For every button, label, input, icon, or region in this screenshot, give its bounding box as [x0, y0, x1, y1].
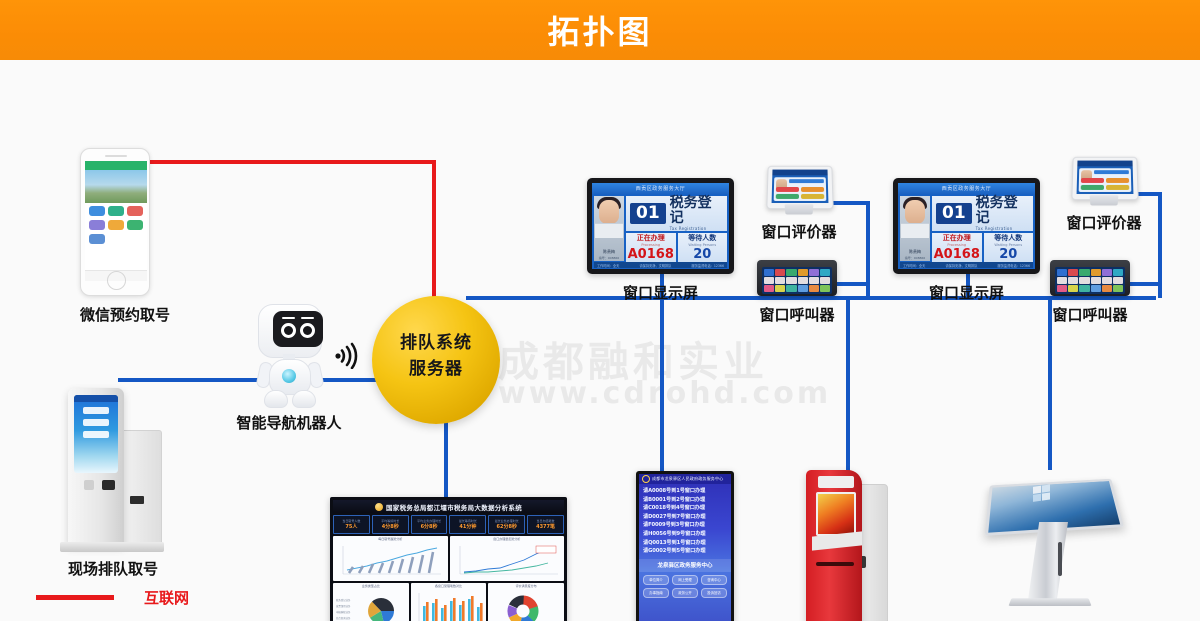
bar-chart [411, 589, 487, 621]
caller-key[interactable] [798, 277, 808, 284]
kpi-value: 41分钟 [459, 523, 476, 530]
diagram-canvas: 成都融和实业 www.cdrohd.com 排队系统 [0, 60, 1200, 621]
legend-item-lan: 单位局域网 [36, 613, 219, 621]
caller-key[interactable] [1068, 277, 1078, 284]
caller-right-node[interactable]: 窗口呼叫器 [1050, 256, 1130, 302]
evaluator-right-label: 窗口评价器 [1043, 212, 1165, 233]
evaluator-screen[interactable] [1077, 161, 1134, 194]
caller-key[interactable] [1057, 285, 1067, 292]
navigation-robot-node[interactable]: 智能导航机器人 [250, 304, 328, 408]
queue-call-line: 请C0018号到4号窗口办理 [643, 504, 727, 513]
photo-torso [901, 223, 929, 238]
display-footer: 工作时间：全天 请保持安静，文明排队 服务监督电话：12366 [900, 262, 1033, 268]
rating-button[interactable] [1106, 185, 1129, 190]
photo-face [599, 200, 619, 224]
caller-key[interactable] [786, 277, 796, 284]
caller-left-label: 窗口呼叫器 [736, 304, 858, 325]
evaluator-screen-header [1077, 161, 1132, 167]
caller-key[interactable] [1057, 269, 1067, 276]
caller-key[interactable] [1079, 269, 1089, 276]
evaluator-screen[interactable] [772, 170, 829, 203]
touch-kiosk-slot [1058, 542, 1062, 576]
line-chart-panel-1: 每日取号趋势分析 [333, 536, 448, 581]
processing-value: A0168 [932, 248, 982, 262]
phone-speaker [105, 155, 127, 157]
rating-button[interactable] [1081, 178, 1104, 183]
display-footer: 工作时间：全天 请保持安静，文明排队 服务监督电话：12366 [594, 262, 727, 268]
evaluator-title-bar [789, 179, 824, 183]
window-display-left-label: 窗口显示屏 [587, 282, 734, 303]
service-name-cn: 税务登记 [976, 196, 1029, 226]
self-service-kiosk-node[interactable]: 自助服务机 [800, 470, 900, 621]
caller-key[interactable] [798, 269, 808, 276]
dashboard-header: 国家税务总局都江堰市税务局大数据分析系统 [333, 500, 564, 513]
link-lan-caller-right-h [1128, 282, 1160, 286]
caller-key[interactable] [1091, 269, 1101, 276]
windows-logo-icon [1032, 484, 1052, 504]
robot-eyebrow [301, 317, 314, 319]
window-display-right-label: 窗口显示屏 [893, 282, 1040, 303]
caller-key[interactable] [1113, 269, 1123, 276]
queue-server-label: 排队系统 服务器 [372, 330, 500, 382]
display-hall-title: 西贡区政务服务大厅 [898, 183, 1035, 194]
line-chart-panel-2: 窗口办理量走势分析 [450, 536, 565, 581]
caller-key[interactable] [1113, 285, 1123, 292]
display-status-row: 正在办理 Processing A0168 等待人数 Waiting Perso… [626, 233, 727, 262]
comprehensive-frame: 成都市龙泉驿区人民政府政务服务中心 请A0008号到1号窗口办理 请B0001号… [636, 471, 734, 621]
phone-screen [85, 161, 147, 281]
evaluator-stand [1090, 195, 1119, 205]
robot-label: 智能导航机器人 [225, 412, 353, 433]
service-name-en: Tax Registration [670, 226, 723, 231]
app-icon [89, 206, 105, 216]
comprehensive-button[interactable]: 投诉回访 [701, 588, 727, 598]
photo-face [905, 200, 925, 224]
evaluator-left-node[interactable]: 窗口评价器 [763, 165, 835, 219]
queue-call-line: 请H0056号到9号窗口办理 [643, 530, 727, 539]
display-service-row: 01 税务登记 Tax Registration [932, 196, 1033, 231]
panel-title: 评价满意度分布 [488, 584, 564, 588]
comprehensive-header: 成都市龙泉驿区人民政府政务服务中心 [639, 474, 731, 484]
wechat-phone-node[interactable]: 微信预约取号 [80, 148, 150, 296]
emblem-icon [375, 503, 383, 511]
kpi-card: 最长业务办理时长 62分8秒 [488, 515, 525, 534]
footer-mid: 请保持安静，文明排队 [639, 263, 671, 268]
bigdata-dashboard-node[interactable]: 国家税务总局都江堰市税务局大数据分析系统 当日取号人数 75人 平均等候时长 4… [330, 497, 567, 621]
staff-name: 陈贵梅 [594, 249, 624, 255]
rating-button[interactable] [776, 187, 799, 192]
robot-pupil [303, 326, 312, 335]
rating-button[interactable] [1106, 178, 1129, 183]
phone-home-button[interactable] [107, 271, 126, 290]
comprehensive-subtitle: 龙泉驿区政务服务中心 [639, 559, 731, 572]
evaluator-screen-body [774, 177, 827, 201]
pie-chart-panel: 业务类型占比 税务登记业务发票领用业务 申报纳税业务综合咨询业务 [333, 583, 409, 621]
kpi-value: 4377笔 [536, 523, 555, 530]
phone-app-grid [85, 203, 147, 247]
panel-title: 每日取号趋势分析 [333, 537, 448, 541]
caller-keypad[interactable] [762, 267, 832, 294]
legend: 互联网 单位局域网 无线网络 [36, 581, 219, 621]
robot-eye [300, 323, 315, 338]
waiting-label-cn: 等待人数 [984, 234, 1034, 243]
dashboard-frame: 国家税务总局都江堰市税务局大数据分析系统 当日取号人数 75人 平均等候时长 4… [330, 497, 567, 621]
robot-head [258, 304, 322, 358]
rating-button[interactable] [1081, 185, 1104, 190]
dashboard-chart-row-1: 每日取号趋势分析 [333, 536, 564, 581]
caller-key[interactable] [786, 269, 796, 276]
dashboard-chart-row-2: 业务类型占比 税务登记业务发票领用业务 申报纳税业务综合咨询业务 [333, 583, 564, 621]
kpi-card: 最长等待时长 41分钟 [449, 515, 486, 534]
service-name-en: Tax Registration [976, 226, 1029, 231]
app-icon [89, 234, 105, 244]
page-header: 拓扑图 [0, 0, 1200, 60]
processing-label-cn: 正在办理 [626, 234, 676, 243]
caller-key[interactable] [775, 269, 785, 276]
staff-photo: 陈贵梅 编号：008866 [900, 196, 930, 261]
caller-key[interactable] [1068, 269, 1078, 276]
comprehensive-screen: 成都市龙泉驿区人民政府政务服务中心 请A0008号到1号窗口办理 请B0001号… [639, 474, 731, 621]
donut-chart-panel: 评价满意度分布 [488, 583, 564, 621]
pie-chart: 税务登记业务发票领用业务 申报纳税业务综合咨询业务 [333, 589, 407, 621]
processing-cell: 正在办理 Processing A0168 [932, 233, 982, 262]
onsite-label: 现场排队取号 [58, 558, 168, 579]
kpi-card: 平均业务办理时长 6分8秒 [411, 515, 448, 534]
caller-key[interactable] [1102, 269, 1112, 276]
comprehensive-button[interactable]: 政务公开 [672, 588, 698, 598]
page-title: 拓扑图 [0, 0, 1200, 60]
caller-body [757, 260, 837, 296]
bar-chart-panel: 各窗口受理笔数对比 [411, 583, 487, 621]
footer-left: 工作时间：全天 [903, 263, 925, 268]
app-icon [108, 220, 124, 230]
watermark-url: www.cdrohd.com [498, 376, 831, 411]
staff-photo: 陈贵梅 编号：008866 [594, 196, 624, 261]
service-name-cn: 税务登记 [670, 196, 723, 226]
legend-label-internet: 互联网 [144, 587, 189, 608]
robot-core-light [282, 369, 296, 383]
caller-key[interactable] [1079, 285, 1089, 292]
caller-key[interactable] [764, 277, 774, 284]
caller-key[interactable] [1079, 277, 1089, 284]
kpi-card: 平均等候时长 4分8秒 [372, 515, 409, 534]
footer-left: 工作时间：全天 [597, 263, 619, 268]
dashboard-title: 国家税务总局都江堰市税务局大数据分析系统 [386, 502, 522, 512]
queue-call-line: 请Q0013号到1号窗口办理 [643, 539, 727, 548]
caller-key[interactable] [1057, 277, 1067, 284]
robot-pupil [284, 326, 293, 335]
caller-key[interactable] [820, 277, 830, 284]
kiosk-screen[interactable] [816, 492, 856, 536]
caller-key[interactable] [1102, 285, 1112, 292]
caller-key[interactable] [775, 285, 785, 292]
kiosk-screen[interactable] [74, 395, 118, 473]
kpi-card: 当日取号人数 75人 [333, 515, 370, 534]
evaluator-left-label: 窗口评价器 [738, 221, 860, 242]
caller-key[interactable] [775, 277, 785, 284]
link-internet-wechat-v [432, 160, 436, 305]
kiosk-side-column [118, 430, 162, 550]
legend-swatch-internet [36, 595, 114, 600]
evaluator-panel [1071, 157, 1138, 200]
queue-call-line: 请F0009号到3号窗口办理 [643, 521, 727, 530]
link-lan-caller-left-h [836, 282, 868, 286]
processing-cell: 正在办理 Processing A0168 [626, 233, 676, 262]
robot-face [273, 311, 323, 347]
evaluator-screen-body [1079, 168, 1132, 192]
kiosk-scanner [102, 480, 115, 490]
kiosk-screen-button [83, 431, 109, 438]
evaluator-rating-buttons[interactable] [776, 187, 825, 199]
phone-body [80, 148, 150, 296]
kpi-value: 75人 [345, 523, 357, 530]
app-icon [127, 220, 143, 230]
robot-eyebrow [282, 317, 295, 319]
dashboard-kpi-row: 当日取号人数 75人 平均等候时长 4分8秒 平均业务办理时长 6分8秒 最长等… [333, 515, 564, 534]
comprehensive-button[interactable]: 咨询中心 [701, 575, 727, 585]
panel-title: 各窗口受理笔数对比 [411, 584, 487, 588]
evaluator-title-bar [1094, 170, 1129, 174]
touch-kiosk-base [1008, 598, 1091, 606]
staff-name: 陈贵梅 [900, 249, 930, 255]
caller-key[interactable] [764, 285, 774, 292]
caller-body [1050, 260, 1130, 296]
kiosk-ticket-slot [130, 496, 144, 504]
caller-key[interactable] [1068, 285, 1078, 292]
line-chart-1 [333, 542, 445, 580]
window-number: 01 [936, 203, 972, 224]
photo-torso [595, 223, 623, 238]
evaluator-rating-buttons[interactable] [1081, 178, 1130, 190]
app-icon [89, 220, 105, 230]
queue-call-list: 请A0008号到1号窗口办理 请B0001号到2号窗口办理 请C0018号到4号… [639, 484, 731, 556]
caller-key[interactable] [786, 285, 796, 292]
line-chart-2 [450, 542, 562, 580]
display-right-col: 01 税务登记 Tax Registration 正在办理 Processing… [932, 196, 1033, 261]
panel-title: 业务类型占比 [333, 584, 409, 588]
kiosk-screen-header [74, 395, 118, 402]
kiosk-card-reader [84, 480, 94, 490]
kpi-value: 62分8秒 [497, 523, 517, 530]
rating-button[interactable] [776, 194, 799, 199]
link-internet-wechat-h [150, 160, 436, 164]
touch-kiosk-column [1028, 522, 1068, 600]
wechat-label: 微信预约取号 [80, 304, 150, 325]
comprehensive-button[interactable]: 单位简介 [643, 575, 669, 585]
display-screen: 西贡区政务服务大厅 陈贵梅 编号：008866 01 税务登记 [592, 183, 729, 269]
rating-button[interactable] [801, 194, 824, 199]
link-lan-comprehensive [660, 298, 664, 472]
kiosk-base [60, 542, 164, 552]
svg-text:税务登记业务: 税务登记业务 [336, 598, 351, 602]
caller-key[interactable] [1102, 277, 1112, 284]
processing-label-cn: 正在办理 [932, 234, 982, 243]
caller-key[interactable] [1091, 285, 1101, 292]
waiting-cell: 等待人数 Waiting Persons 20 [984, 233, 1034, 262]
phone-app-navbar [85, 161, 147, 170]
queue-call-line: 请A0008号到1号窗口办理 [643, 487, 727, 496]
caller-left-node[interactable]: 窗口呼叫器 [757, 256, 837, 302]
legend-item-internet: 互联网 [36, 581, 219, 613]
touch-inquiry-kiosk-node[interactable]: 触摸查询机 [980, 470, 1120, 621]
window-display-right-node[interactable]: 西贡区政务服务大厅 陈贵梅 编号：008866 01 税务登记 [893, 178, 1040, 274]
waiting-value: 20 [678, 248, 728, 262]
onsite-ticket-kiosk-node[interactable]: 现场排队取号 [58, 388, 168, 558]
footer-mid: 请保持安静，文明排队 [945, 263, 977, 268]
kiosk-body [68, 388, 124, 546]
svg-text:发票领用业务: 发票领用业务 [336, 604, 351, 608]
staff-id: 编号：008866 [900, 256, 930, 260]
emblem-icon [642, 475, 650, 483]
evaluator-panel [766, 166, 833, 209]
display-right-col: 01 税务登记 Tax Registration 正在办理 Processing… [626, 196, 727, 261]
caller-key[interactable] [809, 285, 819, 292]
footer-right: 服务监督电话：12366 [692, 263, 724, 268]
window-number: 01 [630, 203, 666, 224]
robot-eye [281, 323, 296, 338]
caller-key[interactable] [809, 277, 819, 284]
caller-key[interactable] [1113, 277, 1123, 284]
topology-page: 拓扑图 成都融和实业 www.cdrohd.com [0, 0, 1200, 621]
display-content: 陈贵梅 编号：008866 01 税务登记 Tax Registration [594, 196, 727, 261]
app-icon [127, 206, 143, 216]
queue-server-node[interactable]: 排队系统 服务器 [372, 296, 500, 424]
kpi-card: 当日办结笔数 4377笔 [527, 515, 564, 534]
display-status-row: 正在办理 Processing A0168 等待人数 Waiting Perso… [932, 233, 1033, 262]
evaluator-screen-header [772, 170, 827, 176]
caller-right-label: 窗口呼叫器 [1029, 304, 1151, 325]
comprehensive-header-title: 成都市龙泉驿区人民政府政务服务中心 [652, 476, 723, 482]
queue-call-line: 请D0027号到7号窗口办理 [643, 513, 727, 522]
comprehensive-display-node[interactable]: 成都市龙泉驿区人民政府政务服务中心 请A0008号到1号窗口办理 请B0001号… [636, 471, 734, 621]
staff-id: 编号：008866 [594, 256, 624, 260]
kiosk-drawer-handle[interactable] [816, 562, 854, 566]
evaluator-right-node[interactable]: 窗口评价器 [1068, 156, 1140, 210]
comprehensive-button-grid[interactable]: 单位简介 网上受理 咨询中心 办事指南 政务公开 投诉回访 [639, 575, 731, 598]
kiosk-screen-button [83, 419, 109, 426]
donut-chart [488, 589, 558, 621]
kpi-value: 4分8秒 [382, 523, 399, 530]
robot-foot [292, 390, 316, 408]
caller-key[interactable] [820, 285, 830, 292]
display-hall-title: 西贡区政务服务大厅 [592, 183, 729, 194]
kiosk-red-body [806, 470, 862, 621]
queue-call-line: 请G0002号到5号窗口办理 [643, 547, 727, 556]
robot-foot [264, 390, 288, 408]
rating-button[interactable] [801, 187, 824, 192]
svg-text:申报纳税业务: 申报纳税业务 [336, 610, 351, 614]
panel-title: 窗口办理量走势分析 [450, 537, 565, 541]
processing-value: A0168 [626, 248, 676, 262]
caller-key[interactable] [820, 269, 830, 276]
caller-key[interactable] [798, 285, 808, 292]
app-icon [108, 206, 124, 216]
evaluator-stand [785, 204, 814, 214]
footer-right: 服务监督电话：12366 [998, 263, 1030, 268]
wifi-signal-icon [333, 339, 363, 369]
comprehensive-button[interactable]: 办事指南 [643, 588, 669, 598]
display-screen: 西贡区政务服务大厅 陈贵梅 编号：008866 01 税务登记 [898, 183, 1035, 269]
caller-keypad[interactable] [1055, 267, 1125, 294]
waiting-cell: 等待人数 Waiting Persons 20 [678, 233, 728, 262]
waiting-label-cn: 等待人数 [678, 234, 728, 243]
svg-text:综合咨询业务: 综合咨询业务 [336, 616, 351, 620]
display-service-row: 01 税务登记 Tax Registration [626, 196, 727, 231]
phone-hero-image [85, 170, 147, 203]
queue-call-line: 请B0001号到2号窗口办理 [643, 496, 727, 505]
kpi-value: 6分8秒 [421, 523, 438, 530]
kiosk-screen-button [83, 407, 109, 414]
caller-key[interactable] [809, 269, 819, 276]
display-content: 陈贵梅 编号：008866 01 税务登记 Tax Registration [900, 196, 1033, 261]
kiosk-top-panel [818, 476, 854, 488]
watermark-text: 成都融和实业 [498, 328, 768, 388]
waiting-value: 20 [984, 248, 1034, 262]
window-display-left-node[interactable]: 西贡区政务服务大厅 陈贵梅 编号：008866 01 税务登记 [587, 178, 734, 274]
caller-key[interactable] [1091, 277, 1101, 284]
caller-key[interactable] [764, 269, 774, 276]
comprehensive-button[interactable]: 网上受理 [672, 575, 698, 585]
